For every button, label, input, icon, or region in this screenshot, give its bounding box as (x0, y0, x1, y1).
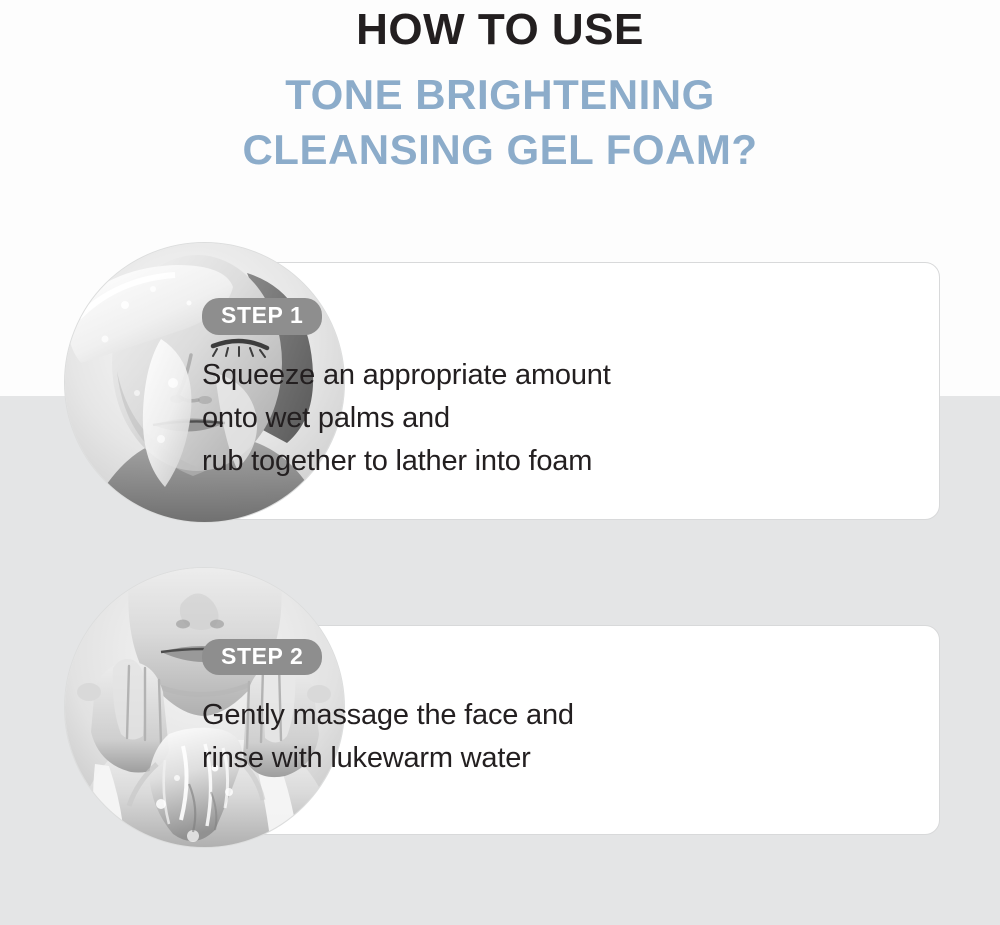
step-1-description: Squeeze an appropriate amount onto wet p… (202, 354, 611, 483)
step-1-badge: STEP 1 (202, 298, 322, 335)
step-2-description: Gently massage the face and rinse with l… (202, 694, 574, 780)
step-1-line-1: Squeeze an appropriate amount (202, 354, 611, 397)
heading-line-product-name-1: TONE BRIGHTENING (0, 56, 1000, 120)
step-1-line-3: rub together to lather into foam (202, 440, 611, 483)
step-1-content: STEP 1 Squeeze an appropriate amount ont… (202, 242, 611, 533)
heading-line-product-name-2: CLEANSING GEL FOAM? (0, 119, 1000, 175)
step-2-content: STEP 2 Gently massage the face and rinse… (202, 567, 574, 852)
step-2-line-2: rinse with lukewarm water (202, 737, 574, 780)
page-title: HOW TO USE TONE BRIGHTENING CLEANSING GE… (0, 0, 1000, 175)
step-2-line-1: Gently massage the face and (202, 694, 574, 737)
step-1-line-2: onto wet palms and (202, 397, 611, 440)
step-row-1: STEP 1 Squeeze an appropriate amount ont… (0, 242, 1000, 527)
step-2-badge: STEP 2 (202, 639, 322, 676)
heading-line-how-to-use: HOW TO USE (0, 0, 1000, 56)
step-row-2: STEP 2 Gently massage the face and rinse… (0, 567, 1000, 852)
